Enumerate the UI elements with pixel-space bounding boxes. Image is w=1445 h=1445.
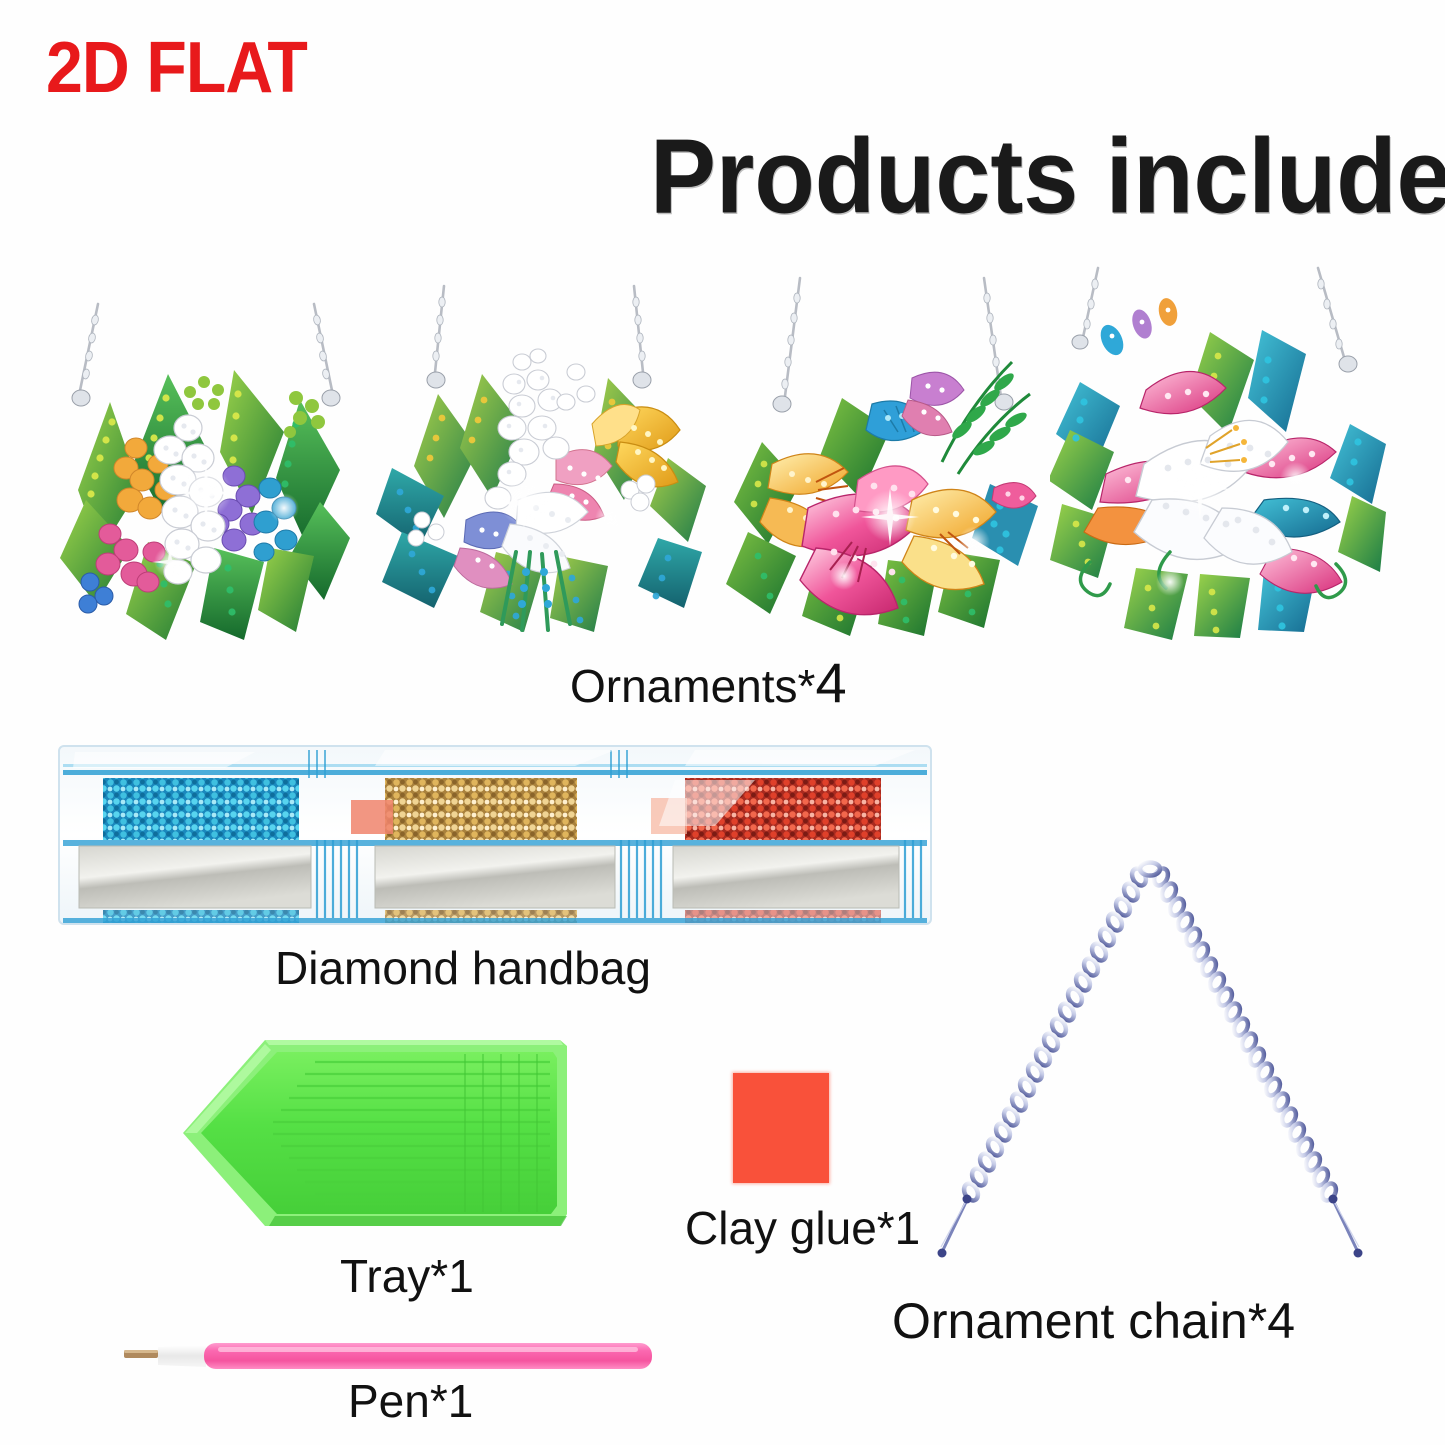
ornament-3-artwork [712, 252, 1048, 642]
flat-badge: 2D FLAT [46, 32, 307, 104]
diamond-handbag-artwork [55, 740, 935, 930]
ornaments-caption-label: Ornaments* [570, 660, 815, 712]
ornaments-caption: Ornaments*4 [570, 655, 847, 711]
ornament-item-3 [712, 252, 1048, 642]
ornament-chain-image [895, 855, 1405, 1275]
ornament-1-artwork [38, 252, 374, 642]
tray-image [165, 1030, 580, 1245]
pen-caption: Pen*1 [348, 1378, 473, 1424]
handbag-caption: Diamond handbag [275, 945, 651, 991]
ornament-chain-artwork [895, 855, 1405, 1275]
ornament-item-4 [1050, 252, 1386, 642]
ornament-item-1 [38, 252, 374, 642]
ornaments-caption-count: 4 [815, 651, 846, 714]
page-title: Products include [650, 124, 1445, 230]
clay-glue-caption: Clay glue*1 [685, 1205, 920, 1251]
ornament-2-artwork [372, 252, 708, 642]
diamond-handbag-image [55, 740, 935, 930]
pen-image [118, 1338, 658, 1374]
tray-artwork [165, 1030, 580, 1245]
clay-glue-image [733, 1073, 829, 1183]
infographic-canvas: 2D FLAT Products include [0, 0, 1445, 1445]
ornament-4-artwork [1050, 252, 1386, 642]
pen-artwork [118, 1338, 658, 1374]
ornament-item-2 [372, 252, 708, 642]
tray-caption: Tray*1 [340, 1253, 474, 1299]
chain-caption: Ornament chain*4 [892, 1296, 1295, 1346]
